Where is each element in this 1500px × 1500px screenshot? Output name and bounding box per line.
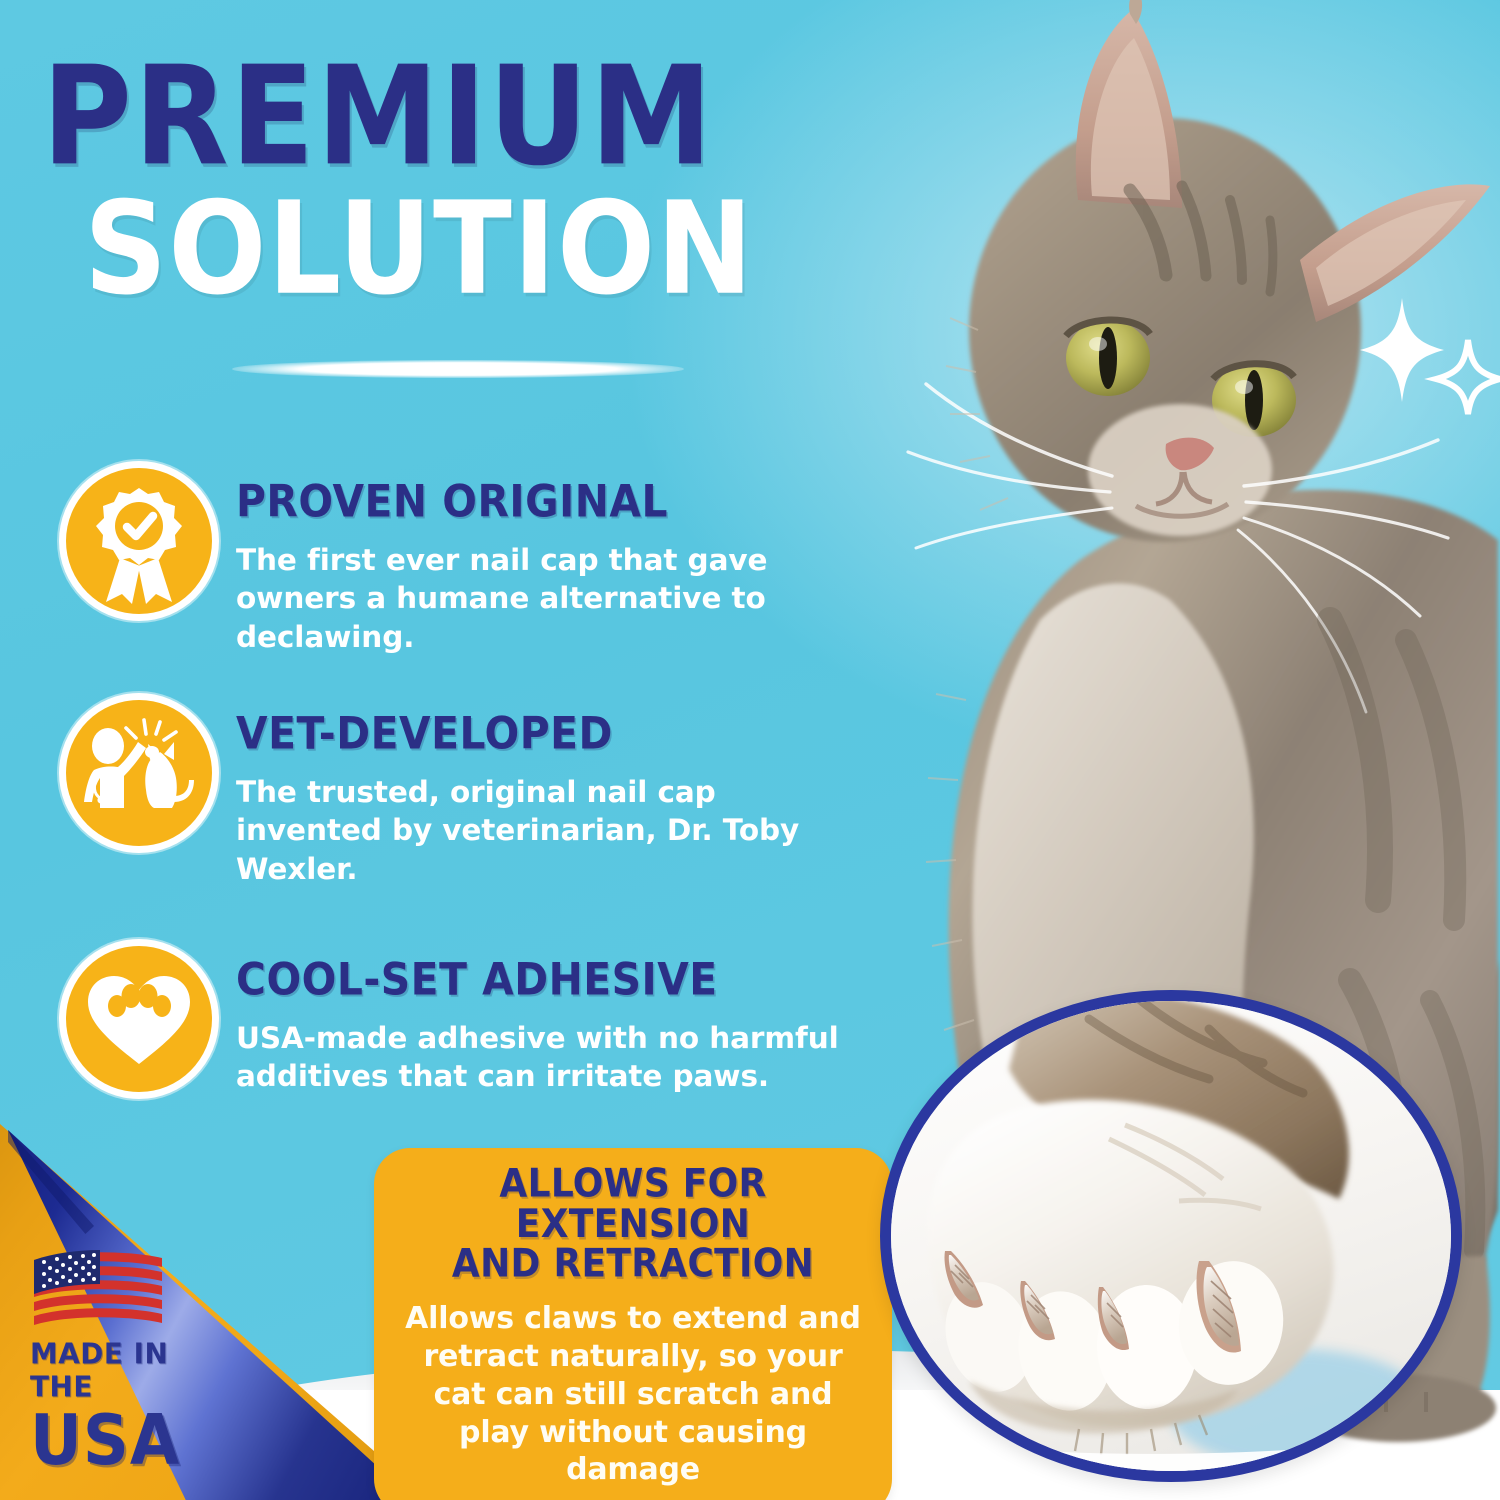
made-in-usa-badge: MADE IN THE USA <box>30 1244 220 1468</box>
feature-title: PROVEN ORIGINAL <box>236 476 872 528</box>
feature-description: The trusted, original nail cap invented … <box>236 773 860 888</box>
sparkle-star-filled-icon <box>1360 298 1444 402</box>
callout-description: Allows claws to extend and retract natur… <box>400 1300 866 1489</box>
heart-paw-icon <box>60 940 218 1098</box>
cat-paw-with-nail-caps-photo <box>880 990 1462 1482</box>
feature-item-vet-developed: VET-DEVELOPED The trusted, original nail… <box>60 694 860 888</box>
made-in-usa-line-2: USA <box>30 1406 226 1475</box>
product-infographic: PREMIUM SOLUTION PROVEN ORIGINAL <box>0 0 1500 1500</box>
usa-flag-icon <box>30 1244 170 1328</box>
headline-line-1: PREMIUM <box>42 52 719 181</box>
sparkle-group <box>1358 296 1500 416</box>
award-ribbon-check-icon <box>60 462 218 620</box>
headline-line-2: SOLUTION <box>84 189 754 311</box>
feature-description: The first ever nail cap that gave owners… <box>236 541 860 656</box>
feature-title: COOL-SET ADHESIVE <box>236 954 872 1006</box>
feature-list: PROVEN ORIGINAL The first ever nail cap … <box>60 462 860 1136</box>
page-title: PREMIUM SOLUTION <box>42 52 693 289</box>
sparkle-star-outline-icon <box>1436 340 1500 414</box>
feature-title: VET-DEVELOPED <box>236 708 872 760</box>
vet-high-five-cat-icon <box>60 694 218 852</box>
underline-swoosh-graphic <box>232 360 684 378</box>
feature-item-proven-original: PROVEN ORIGINAL The first ever nail cap … <box>60 462 860 656</box>
feature-description: USA-made adhesive with no harmful additi… <box>236 1019 860 1096</box>
callout-title-line-1: ALLOWS FOR EXTENSION <box>400 1164 866 1245</box>
callout-extension-retraction: ALLOWS FOR EXTENSION AND RETRACTION Allo… <box>374 1148 892 1500</box>
feature-item-cool-set-adhesive: COOL-SET ADHESIVE USA-made adhesive with… <box>60 940 860 1098</box>
made-in-usa-line-1: MADE IN THE <box>30 1338 229 1404</box>
callout-title: ALLOWS FOR EXTENSION AND RETRACTION <box>400 1164 866 1285</box>
callout-title-line-2: AND RETRACTION <box>400 1245 866 1285</box>
